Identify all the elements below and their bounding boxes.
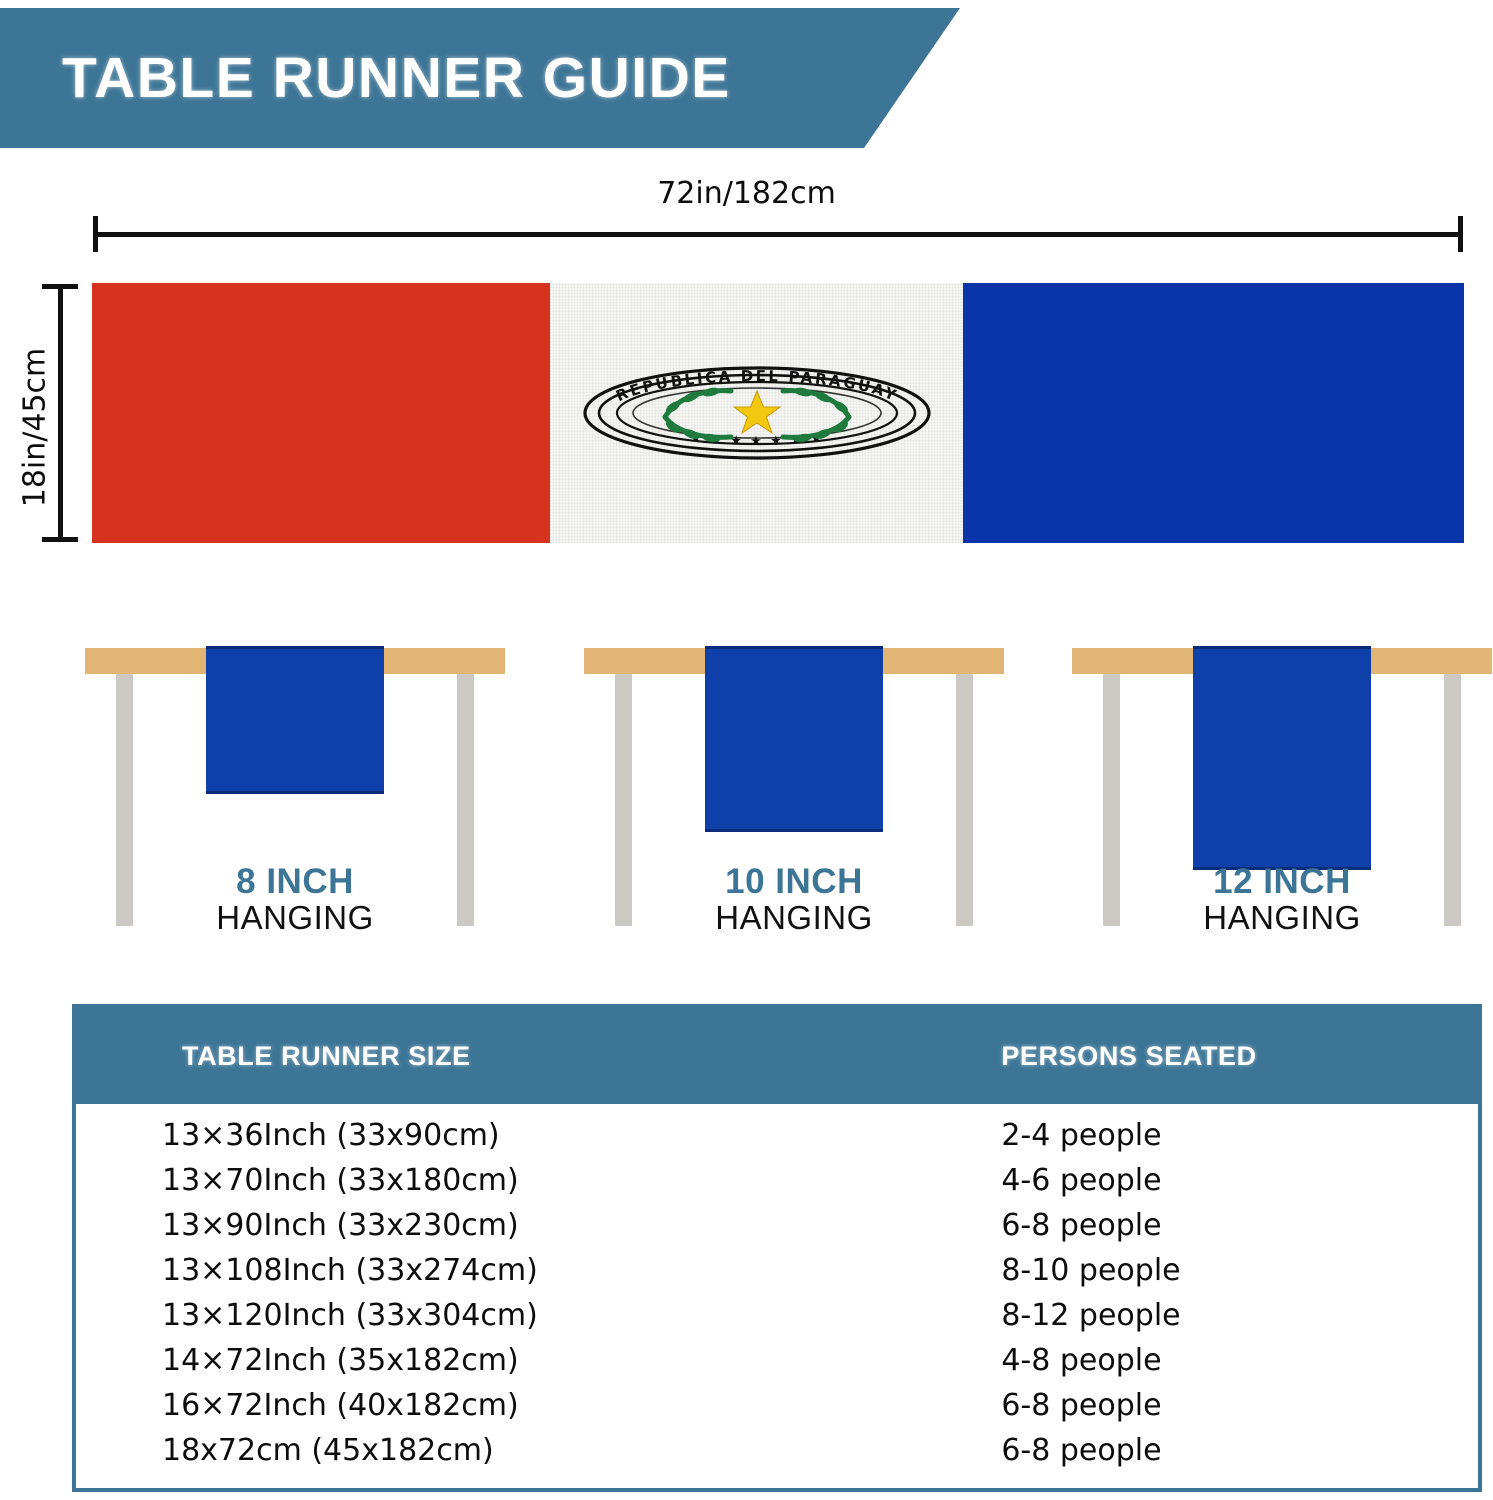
hanging-runner — [705, 646, 883, 832]
table-row: 13×36Inch (33x90cm) 2-4 people — [76, 1113, 1478, 1158]
hanging-caption: 12 INCH HANGING — [1072, 863, 1492, 936]
width-dimension-label: 72in/182cm — [0, 176, 1493, 211]
table-row: 13×120Inch (33x304cm) 8-12 people — [76, 1293, 1478, 1338]
cell-size: 13×90Inch (33x230cm) — [76, 1208, 1001, 1243]
cell-people: 8-12 people — [1001, 1298, 1478, 1333]
width-dimension-line — [93, 232, 1463, 237]
hanging-runner — [1193, 646, 1371, 870]
cell-people: 4-6 people — [1001, 1163, 1478, 1198]
hanging-diagram-10-inch: 10 INCH HANGING — [584, 612, 1004, 942]
page-title: TABLE RUNNER GUIDE — [62, 45, 731, 111]
width-dimension-cap-right — [1458, 216, 1463, 252]
cell-size: 14×72Inch (35x182cm) — [76, 1343, 1001, 1378]
hanging-inch-label: 12 INCH — [1072, 863, 1492, 901]
cell-size: 13×36Inch (33x90cm) — [76, 1118, 1001, 1153]
hanging-caption: 10 INCH HANGING — [584, 863, 1004, 936]
cell-people: 8-10 people — [1001, 1253, 1478, 1288]
height-dimension-cap-bottom — [42, 537, 78, 542]
table-row: 14×72Inch (35x182cm) 4-8 people — [76, 1338, 1478, 1383]
header-banner: TABLE RUNNER GUIDE — [0, 8, 960, 148]
cell-people: 6-8 people — [1001, 1433, 1478, 1468]
cell-people: 6-8 people — [1001, 1388, 1478, 1423]
table-row: 13×70Inch (33x180cm) 4-6 people — [76, 1158, 1478, 1203]
cell-size: 16×72Inch (40x182cm) — [76, 1388, 1001, 1423]
red-stripe — [92, 283, 550, 543]
table-row: 13×108Inch (33x274cm) 8-10 people — [76, 1248, 1478, 1293]
height-dimension-cap-top — [42, 284, 78, 289]
size-table: TABLE RUNNER SIZE PERSONS SEATED 13×36In… — [72, 1004, 1482, 1492]
hanging-word-label: HANGING — [1072, 900, 1492, 936]
hanging-diagrams: 8 INCH HANGING 10 INCH HANGING 12 INCH H… — [0, 612, 1493, 942]
hanging-diagram-8-inch: 8 INCH HANGING — [85, 612, 505, 942]
table-row: 16×72Inch (40x182cm) 6-8 people — [76, 1383, 1478, 1428]
size-table-body: 13×36Inch (33x90cm) 2-4 people 13×70Inch… — [76, 1104, 1478, 1473]
cell-size: 13×70Inch (33x180cm) — [76, 1163, 1001, 1198]
runner-flag-image: REPUBLICA DEL PARAGUAY ★ ★ ★ ★ ★ ★ ★ — [92, 283, 1464, 543]
table-row: 13×90Inch (33x230cm) 6-8 people — [76, 1203, 1478, 1248]
cell-people: 4-8 people — [1001, 1343, 1478, 1378]
height-dimension-line — [58, 284, 63, 542]
column-header-people: PERSONS SEATED — [1001, 1041, 1478, 1072]
cell-size: 18x72cm (45x182cm) — [76, 1433, 1001, 1468]
hanging-caption: 8 INCH HANGING — [85, 863, 505, 936]
table-row: 18x72cm (45x182cm) 6-8 people — [76, 1428, 1478, 1473]
white-stripe: REPUBLICA DEL PARAGUAY ★ ★ ★ ★ ★ ★ ★ — [550, 283, 963, 543]
blue-stripe — [963, 283, 1464, 543]
hanging-runner — [206, 646, 384, 794]
height-dimension-label: 18in/45cm — [18, 338, 53, 518]
hanging-word-label: HANGING — [584, 900, 1004, 936]
paraguay-coat-of-arms-icon: REPUBLICA DEL PARAGUAY ★ ★ ★ ★ ★ ★ ★ — [582, 365, 932, 461]
hanging-diagram-12-inch: 12 INCH HANGING — [1072, 612, 1492, 942]
hanging-inch-label: 8 INCH — [85, 863, 505, 901]
cell-people: 2-4 people — [1001, 1118, 1478, 1153]
width-dimension-cap-left — [93, 216, 98, 252]
cell-people: 6-8 people — [1001, 1208, 1478, 1243]
size-table-header-row: TABLE RUNNER SIZE PERSONS SEATED — [76, 1008, 1478, 1104]
cell-size: 13×108Inch (33x274cm) — [76, 1253, 1001, 1288]
cell-size: 13×120Inch (33x304cm) — [76, 1298, 1001, 1333]
hanging-word-label: HANGING — [85, 900, 505, 936]
column-header-size: TABLE RUNNER SIZE — [76, 1041, 1001, 1072]
hanging-inch-label: 10 INCH — [584, 863, 1004, 901]
